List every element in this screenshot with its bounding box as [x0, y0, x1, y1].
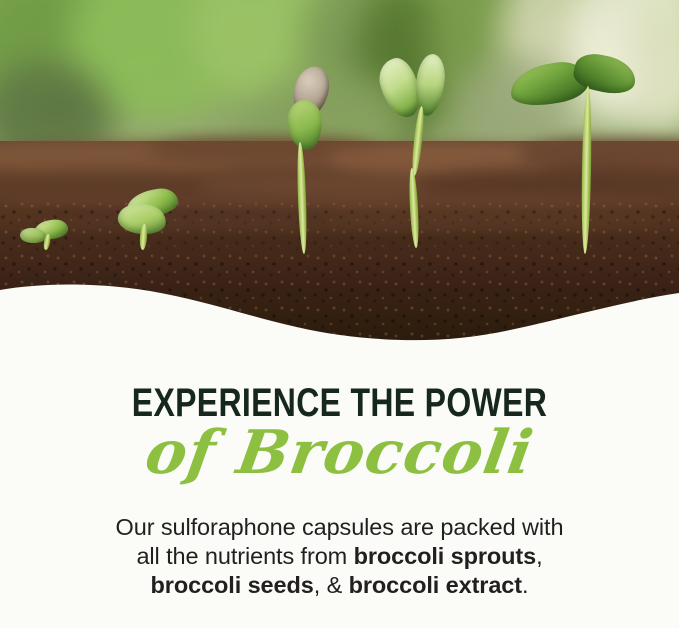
body-line-3: broccoli seeds, & broccoli extract. [0, 571, 679, 600]
body-copy: Our sulforaphone capsules are packed wit… [0, 513, 679, 600]
body-line-1: Our sulforaphone capsules are packed wit… [0, 513, 679, 542]
body-line-2-prefix: all the nutrients from [136, 543, 353, 569]
headline: EXPERIENCE THE POWER [68, 383, 611, 423]
body-line-1-text: Our sulforaphone capsules are packed wit… [116, 514, 564, 540]
seedling-stage-4 [380, 54, 476, 258]
seedling-stage-5 [508, 50, 648, 262]
broccoli-extract-emphasis: broccoli extract [349, 572, 522, 598]
body-line-2-suffix: , [536, 543, 542, 569]
hero-image [0, 0, 679, 345]
body-line-2: all the nutrients from broccoli sprouts, [0, 542, 679, 571]
seedling-stage-2 [112, 190, 190, 258]
seedling-stage-1 [18, 218, 80, 254]
broccoli-sprouts-emphasis: broccoli sprouts [354, 543, 537, 569]
script-subheadline: of Broccoli [0, 423, 679, 483]
body-line-3-period: . [522, 572, 528, 598]
seedling-stage-3 [272, 66, 352, 256]
broccoli-seeds-emphasis: broccoli seeds [151, 572, 314, 598]
wave-divider [0, 260, 679, 345]
promo-banner: EXPERIENCE THE POWER of Broccoli Our sul… [0, 0, 679, 628]
body-line-3-conjunction: , & [314, 572, 349, 598]
text-content: EXPERIENCE THE POWER of Broccoli Our sul… [0, 345, 679, 628]
